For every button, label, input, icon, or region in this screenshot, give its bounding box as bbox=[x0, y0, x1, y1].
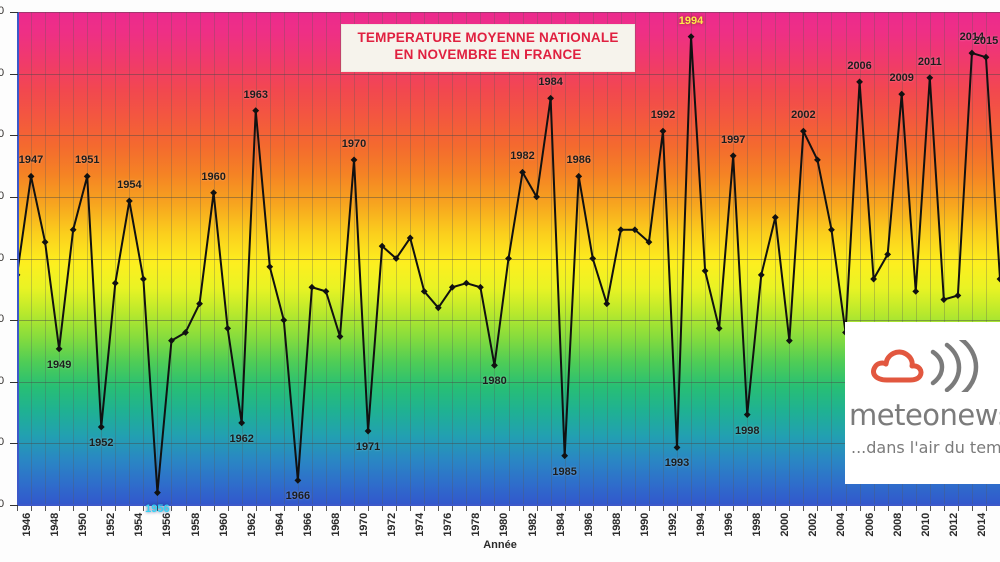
x-axis-tick bbox=[649, 506, 650, 511]
x-axis-tick bbox=[733, 506, 734, 511]
x-axis-tick bbox=[340, 506, 341, 511]
x-axis-tick bbox=[803, 506, 804, 511]
data-point-marker bbox=[28, 173, 35, 180]
point-year-label: 1997 bbox=[721, 134, 745, 146]
x-axis-tick bbox=[817, 506, 818, 511]
x-axis-tick bbox=[663, 506, 664, 511]
data-point-marker bbox=[674, 444, 681, 451]
point-year-label: 1980 bbox=[482, 375, 506, 387]
x-axis-tick bbox=[916, 506, 917, 511]
y-axis-tick-label: 0 bbox=[0, 252, 10, 264]
x-axis-tick-label: 1972 bbox=[386, 513, 398, 537]
data-point-marker bbox=[154, 489, 161, 496]
x-axis-tick bbox=[87, 506, 88, 511]
chart-title: TEMPERATURE MOYENNE NATIONALE EN NOVEMBR… bbox=[341, 24, 635, 72]
x-axis-tick bbox=[537, 506, 538, 511]
x-axis-tick-label: 1956 bbox=[161, 513, 173, 537]
point-year-label: 1949 bbox=[47, 359, 71, 371]
meteonews-tagline: ...dans l'air du temps bbox=[851, 438, 1000, 457]
x-axis-tick bbox=[410, 506, 411, 511]
x-axis-tick-label: 1970 bbox=[358, 513, 370, 537]
x-axis-tick bbox=[438, 506, 439, 511]
point-year-label: 1947 bbox=[19, 154, 43, 166]
data-point-marker bbox=[238, 419, 245, 426]
x-axis-tick bbox=[635, 506, 636, 511]
point-year-label: 1998 bbox=[735, 425, 759, 437]
x-axis-tick bbox=[579, 506, 580, 511]
x-axis-tick bbox=[607, 506, 608, 511]
x-axis-tick-label: 2014 bbox=[976, 513, 988, 537]
data-point-marker bbox=[603, 300, 610, 307]
x-axis-tick bbox=[705, 506, 706, 511]
data-point-marker bbox=[786, 337, 793, 344]
point-year-label: 1994 bbox=[679, 15, 703, 27]
x-axis-tick bbox=[368, 506, 369, 511]
data-point-marker bbox=[196, 300, 203, 307]
x-axis-tick-label: 1974 bbox=[414, 513, 426, 537]
data-point-marker bbox=[983, 54, 990, 61]
data-point-marker bbox=[814, 157, 821, 164]
x-axis-tick-label: 1954 bbox=[133, 513, 145, 537]
x-axis-tick bbox=[312, 506, 313, 511]
point-year-label: 1952 bbox=[89, 437, 113, 449]
x-axis-tick bbox=[509, 506, 510, 511]
data-point-marker bbox=[294, 477, 301, 484]
point-year-label: 2002 bbox=[791, 109, 815, 121]
x-axis-tick-label: 1958 bbox=[190, 513, 202, 537]
x-axis-tick bbox=[354, 506, 355, 511]
x-axis-tick bbox=[326, 506, 327, 511]
x-axis-tick bbox=[284, 506, 285, 511]
data-point-marker bbox=[912, 288, 919, 295]
x-axis-tick bbox=[747, 506, 748, 511]
x-axis-tick-label: 1978 bbox=[470, 513, 482, 537]
point-year-label: 1970 bbox=[342, 138, 366, 150]
x-axis-tick-label: 1966 bbox=[302, 513, 314, 537]
x-axis-tick-label: 1976 bbox=[442, 513, 454, 537]
data-point-marker bbox=[98, 424, 105, 431]
x-axis-tick bbox=[424, 506, 425, 511]
y-axis-tick-label: 0 bbox=[0, 67, 10, 79]
x-axis-tick-label: 1946 bbox=[21, 513, 33, 537]
data-point-marker bbox=[463, 280, 470, 287]
data-point-marker bbox=[758, 272, 765, 279]
x-axis-tick-label: 1992 bbox=[667, 513, 679, 537]
x-axis-tick bbox=[593, 506, 594, 511]
data-point-marker bbox=[940, 296, 947, 303]
data-point-marker bbox=[140, 276, 147, 283]
data-point-marker bbox=[365, 428, 372, 435]
x-axis-tick bbox=[831, 506, 832, 511]
chart-title-line-2: EN NOVEMBRE EN FRANCE bbox=[350, 47, 626, 64]
y-axis-tick-label: 0 bbox=[0, 190, 10, 202]
x-axis-tick bbox=[719, 506, 720, 511]
data-point-marker bbox=[716, 325, 723, 332]
x-axis-tick-label: 2006 bbox=[864, 513, 876, 537]
x-axis-tick bbox=[972, 506, 973, 511]
y-axis-tick bbox=[10, 320, 18, 321]
data-point-marker bbox=[224, 325, 231, 332]
y-axis-tick-label: 0 bbox=[0, 128, 10, 140]
data-point-marker bbox=[280, 317, 287, 324]
data-point-marker bbox=[898, 91, 905, 98]
x-axis-tick bbox=[775, 506, 776, 511]
y-axis-tick-label: 0 bbox=[0, 313, 10, 325]
point-year-label: 2009 bbox=[889, 72, 913, 84]
point-year-label: 2006 bbox=[847, 60, 871, 72]
data-point-marker bbox=[589, 255, 596, 262]
y-axis-tick bbox=[10, 12, 18, 13]
y-axis-tick-label: 0 bbox=[0, 5, 10, 17]
point-year-label: 1984 bbox=[538, 76, 562, 88]
x-axis-tick-label: 1990 bbox=[639, 513, 651, 537]
data-point-marker bbox=[477, 284, 484, 291]
x-axis-tick-label: 1960 bbox=[218, 513, 230, 537]
x-axis-tick bbox=[494, 506, 495, 511]
x-axis-tick bbox=[214, 506, 215, 511]
cloud-signal-icon bbox=[865, 340, 1000, 392]
y-axis-tick bbox=[10, 74, 18, 75]
y-axis-tick bbox=[10, 382, 18, 383]
data-point-marker bbox=[252, 107, 259, 114]
x-axis-tick bbox=[789, 506, 790, 511]
x-axis-tick-label: 1950 bbox=[77, 513, 89, 537]
y-axis-tick bbox=[10, 197, 18, 198]
y-axis-tick bbox=[10, 443, 18, 444]
x-axis-tick bbox=[621, 506, 622, 511]
x-axis-tick bbox=[270, 506, 271, 511]
data-point-marker bbox=[800, 128, 807, 135]
x-axis-tick bbox=[874, 506, 875, 511]
x-axis-tick bbox=[298, 506, 299, 511]
x-axis-tick bbox=[846, 506, 847, 511]
meteonews-brand: meteonews bbox=[849, 398, 1000, 432]
y-axis-tick-label: 0 bbox=[0, 375, 10, 387]
x-axis-tick-label: 2004 bbox=[835, 513, 847, 537]
x-axis-tick bbox=[902, 506, 903, 511]
x-axis-tick bbox=[17, 506, 18, 511]
x-axis-tick-label: 1948 bbox=[49, 513, 61, 537]
x-axis-tick-label: 1984 bbox=[555, 513, 567, 537]
x-axis-tick bbox=[551, 506, 552, 511]
data-point-marker bbox=[126, 198, 133, 205]
chart-root: 000000000 194619481950195219541956195819… bbox=[0, 0, 1000, 562]
x-axis-tick-label: 2002 bbox=[807, 513, 819, 537]
x-axis-tick bbox=[129, 506, 130, 511]
data-point-marker bbox=[744, 411, 751, 418]
data-point-marker bbox=[688, 33, 695, 40]
x-axis-tick bbox=[382, 506, 383, 511]
data-point-marker bbox=[547, 95, 554, 102]
x-axis-title: Année bbox=[0, 539, 1000, 551]
x-axis-tick bbox=[115, 506, 116, 511]
data-point-marker bbox=[660, 128, 667, 135]
y-axis-tick bbox=[10, 135, 18, 136]
x-axis-tick-label: 1980 bbox=[498, 513, 510, 537]
data-point-marker bbox=[505, 255, 512, 262]
x-axis-tick bbox=[860, 506, 861, 511]
y-axis-tick-label: 0 bbox=[0, 436, 10, 448]
data-point-marker bbox=[323, 288, 330, 295]
x-axis-tick bbox=[677, 506, 678, 511]
x-axis-tick bbox=[986, 506, 987, 511]
x-axis-tick bbox=[256, 506, 257, 511]
x-axis-tick bbox=[888, 506, 889, 511]
data-point-marker bbox=[84, 173, 91, 180]
point-year-label: 1986 bbox=[566, 154, 590, 166]
data-point-marker bbox=[926, 74, 933, 81]
data-point-marker bbox=[337, 333, 344, 340]
point-year-label: 1956 bbox=[145, 503, 169, 515]
x-axis-tick bbox=[101, 506, 102, 511]
x-axis-tick-label: 2012 bbox=[948, 513, 960, 537]
point-year-label: 1982 bbox=[510, 150, 534, 162]
x-axis-tick bbox=[761, 506, 762, 511]
data-point-marker bbox=[309, 284, 316, 291]
point-year-label: 2011 bbox=[918, 56, 942, 68]
x-axis-tick-label: 2010 bbox=[920, 513, 932, 537]
x-axis-tick bbox=[480, 506, 481, 511]
data-point-marker bbox=[969, 50, 976, 57]
meteonews-watermark: meteonews ...dans l'air du temps bbox=[845, 322, 1000, 484]
x-axis-tick-label: 1998 bbox=[751, 513, 763, 537]
x-axis-tick bbox=[691, 506, 692, 511]
x-axis-tick bbox=[930, 506, 931, 511]
data-point-marker bbox=[266, 263, 273, 270]
point-year-label: 2015 bbox=[974, 35, 998, 47]
y-axis-tick bbox=[10, 259, 18, 260]
data-point-marker bbox=[856, 78, 863, 85]
x-axis-tick-label: 2008 bbox=[892, 513, 904, 537]
data-point-marker bbox=[42, 239, 49, 246]
data-point-marker bbox=[210, 189, 217, 196]
point-year-label: 1963 bbox=[243, 89, 267, 101]
x-axis-tick bbox=[73, 506, 74, 511]
data-point-marker bbox=[617, 226, 624, 233]
x-axis-tick bbox=[186, 506, 187, 511]
point-year-label: 1985 bbox=[552, 466, 576, 478]
x-axis-tick-label: 1986 bbox=[583, 513, 595, 537]
x-axis-tick bbox=[171, 506, 172, 511]
point-year-label: 1992 bbox=[651, 109, 675, 121]
point-year-label: 1962 bbox=[229, 433, 253, 445]
x-axis-tick bbox=[396, 506, 397, 511]
data-point-marker bbox=[491, 362, 498, 369]
point-year-label: 1954 bbox=[117, 179, 141, 191]
point-year-label: 1960 bbox=[201, 171, 225, 183]
data-point-marker bbox=[112, 280, 119, 287]
data-point-marker bbox=[351, 157, 358, 164]
x-axis-tick-label: 1964 bbox=[274, 513, 286, 537]
data-point-marker bbox=[575, 173, 582, 180]
x-axis-tick bbox=[452, 506, 453, 511]
x-axis-tick-label: 1996 bbox=[723, 513, 735, 537]
data-point-marker bbox=[70, 226, 77, 233]
data-point-marker bbox=[56, 345, 63, 352]
x-axis-tick bbox=[228, 506, 229, 511]
x-axis-tick-label: 1988 bbox=[611, 513, 623, 537]
x-axis-tick-label: 1982 bbox=[527, 513, 539, 537]
data-point-marker bbox=[997, 276, 1000, 283]
data-point-marker bbox=[561, 452, 568, 459]
x-axis-tick bbox=[958, 506, 959, 511]
data-point-marker bbox=[772, 214, 779, 221]
x-axis-tick bbox=[944, 506, 945, 511]
x-axis-tick bbox=[523, 506, 524, 511]
x-axis-tick-label: 1994 bbox=[695, 513, 707, 537]
data-point-marker bbox=[954, 292, 961, 299]
point-year-label: 1966 bbox=[286, 490, 310, 502]
data-point-marker bbox=[730, 152, 737, 159]
x-axis-tick bbox=[565, 506, 566, 511]
x-axis-tick bbox=[200, 506, 201, 511]
data-point-marker bbox=[702, 267, 709, 274]
x-axis-tick bbox=[31, 506, 32, 511]
point-year-label: 1951 bbox=[75, 154, 99, 166]
point-year-label: 1971 bbox=[356, 441, 380, 453]
y-axis-tick-label: 0 bbox=[0, 498, 10, 510]
x-axis-tick bbox=[242, 506, 243, 511]
chart-title-line-1: TEMPERATURE MOYENNE NATIONALE bbox=[350, 30, 626, 47]
x-axis-tick-label: 1968 bbox=[330, 513, 342, 537]
x-axis-tick-label: 1962 bbox=[246, 513, 258, 537]
x-axis-tick bbox=[466, 506, 467, 511]
x-axis-tick-label: 1952 bbox=[105, 513, 117, 537]
x-axis-tick-label: 2000 bbox=[779, 513, 791, 537]
x-axis-tick bbox=[45, 506, 46, 511]
data-point-marker bbox=[828, 226, 835, 233]
x-axis-tick bbox=[59, 506, 60, 511]
point-year-label: 1993 bbox=[665, 457, 689, 469]
